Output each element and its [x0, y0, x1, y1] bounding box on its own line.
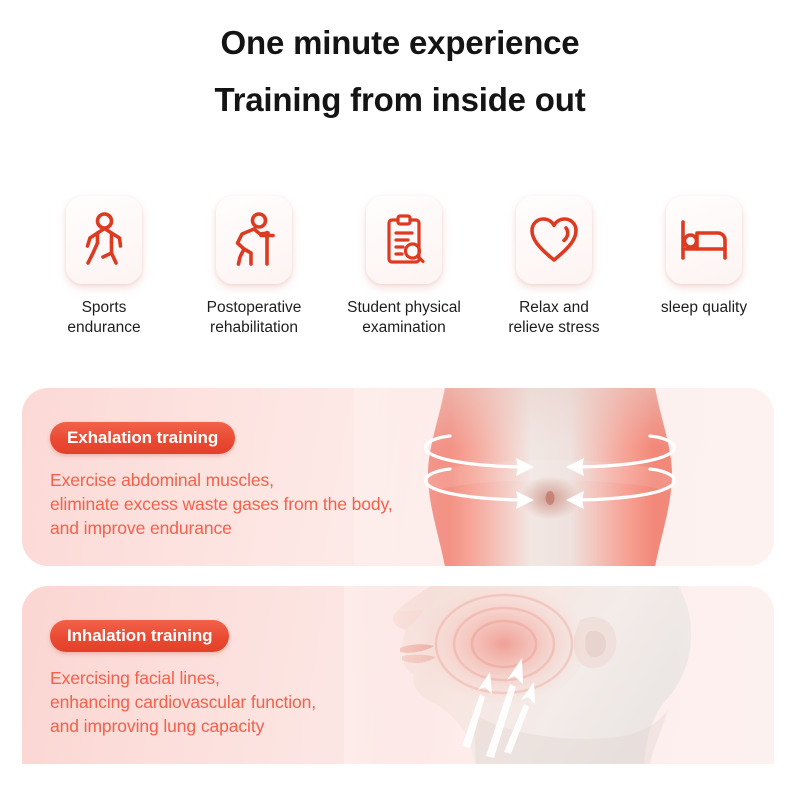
exhalation-description: Exercise abdominal muscles, eliminate ex… — [50, 468, 393, 540]
headline-line-2: Training from inside out — [0, 83, 800, 116]
feature-label: sleep quality — [661, 298, 747, 318]
feature-item-sports-endurance[interactable]: Sports endurance — [34, 196, 174, 338]
inhalation-description: Exercising facial lines, enhancing cardi… — [50, 666, 316, 738]
exhalation-training-panel: Exhalation training Exercise abdominal m… — [22, 388, 774, 566]
headline-line-1: One minute experience — [0, 26, 800, 59]
inhalation-text-block: Inhalation training Exercising facial li… — [50, 620, 316, 738]
heart-icon — [528, 215, 580, 265]
elderly-rehabilitation-icon — [229, 212, 279, 268]
exhalation-text-block: Exhalation training Exercise abdominal m… — [50, 422, 393, 540]
feature-item-postoperative-rehabilitation[interactable]: Postoperative rehabilitation — [184, 196, 324, 338]
feature-label: Relax and relieve stress — [508, 298, 599, 338]
feature-item-relax-relieve-stress[interactable]: Relax and relieve stress — [484, 196, 624, 338]
feature-label: Sports endurance — [67, 298, 140, 338]
feature-card[interactable] — [366, 196, 442, 284]
running-person-icon — [81, 212, 127, 268]
feature-label: Student physical examination — [347, 298, 461, 338]
feature-card[interactable] — [516, 196, 592, 284]
inhalation-training-panel: Inhalation training Exercising facial li… — [22, 586, 774, 764]
feature-list: Sports endurance Postoperative rehabilit… — [34, 196, 774, 338]
exhalation-badge: Exhalation training — [50, 422, 235, 454]
feature-item-sleep-quality[interactable]: sleep quality — [634, 196, 774, 318]
feature-card[interactable] — [666, 196, 742, 284]
abdomen-photo — [354, 388, 774, 566]
headline-block: One minute experience Training from insi… — [0, 0, 800, 116]
feature-card[interactable] — [66, 196, 142, 284]
feature-card[interactable] — [216, 196, 292, 284]
feature-label: Postoperative rehabilitation — [207, 298, 302, 338]
face-profile-photo — [344, 586, 774, 764]
inhalation-badge: Inhalation training — [50, 620, 229, 652]
feature-item-student-physical-examination[interactable]: Student physical examination — [334, 196, 474, 338]
bed-sleep-icon — [678, 218, 730, 262]
clipboard-magnifier-icon — [381, 212, 427, 268]
